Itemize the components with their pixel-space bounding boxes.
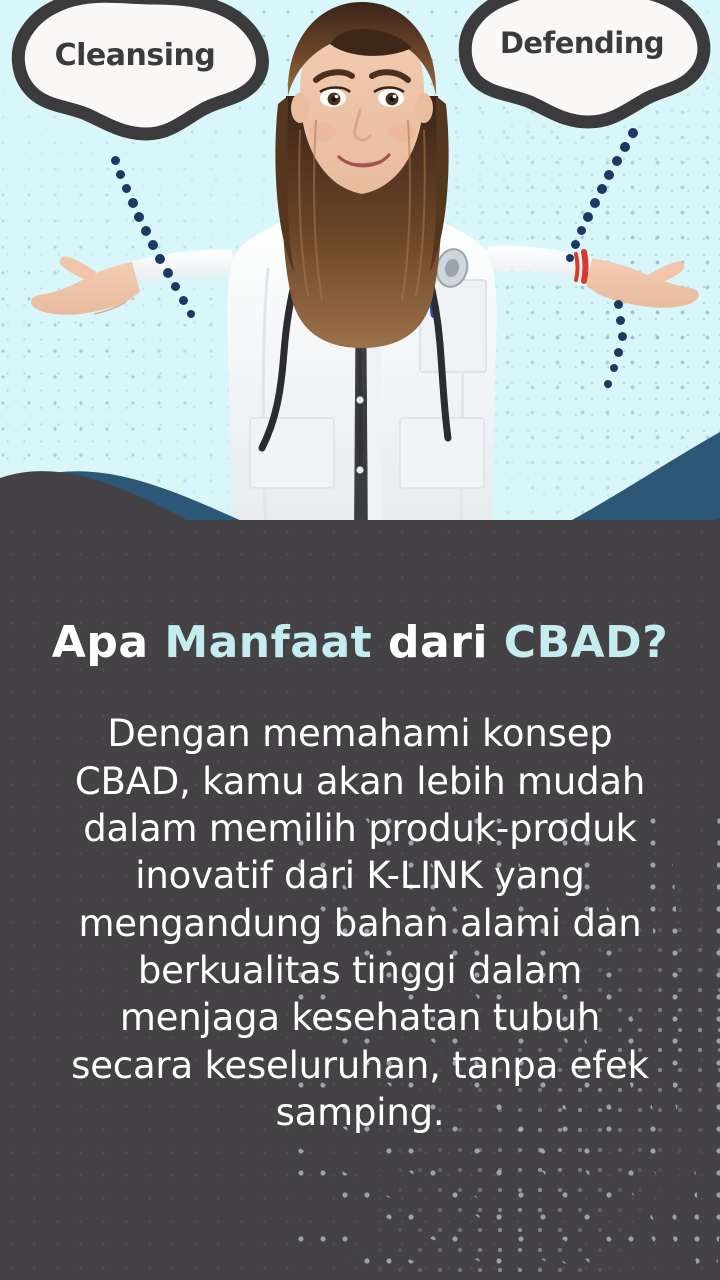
speech-bubble-cleansing[interactable]: Cleansing <box>4 0 272 140</box>
speech-bubble-cleansing-label: Cleansing <box>4 0 272 140</box>
body-line: inovatif dari K-LINK yang <box>135 854 584 897</box>
speech-bubble-defending[interactable]: Defending <box>454 0 710 126</box>
body-line: secara keseluruhan, tanpa efek <box>71 1044 649 1087</box>
body-paragraph: Dengan memahami konsepCBAD, kamu akan le… <box>0 710 720 1136</box>
page-title-accent-manfaat: Manfaat <box>164 617 372 668</box>
body-line: CBAD, kamu akan lebih mudah <box>75 760 645 803</box>
speech-bubble-defending-label: Defending <box>454 0 710 126</box>
red-bracelet <box>584 252 586 281</box>
left-hand <box>31 257 140 315</box>
poster-canvas: Cleansing Defending Apa Manfaat dari CBA… <box>0 0 720 1280</box>
body-line: samping. <box>276 1091 445 1134</box>
body-line: Dengan memahami konsep <box>107 712 612 755</box>
page-title-part1: Apa <box>52 617 165 668</box>
body-line: dalam memilih produk-produk <box>83 807 637 850</box>
page-title-part2: dari <box>372 617 504 668</box>
page-title: Apa Manfaat dari CBAD? <box>0 620 720 666</box>
text-content: Apa Manfaat dari CBAD? Dengan memahami k… <box>0 520 720 1136</box>
body-line: berkualitas tinggi dalam <box>138 949 582 992</box>
body-line: mengandung bahan alami dan <box>78 902 641 945</box>
page-title-accent-cbad: CBAD? <box>504 617 668 668</box>
right-hand <box>576 252 699 308</box>
body-line: menjaga kesehatan tubuh <box>120 996 600 1039</box>
